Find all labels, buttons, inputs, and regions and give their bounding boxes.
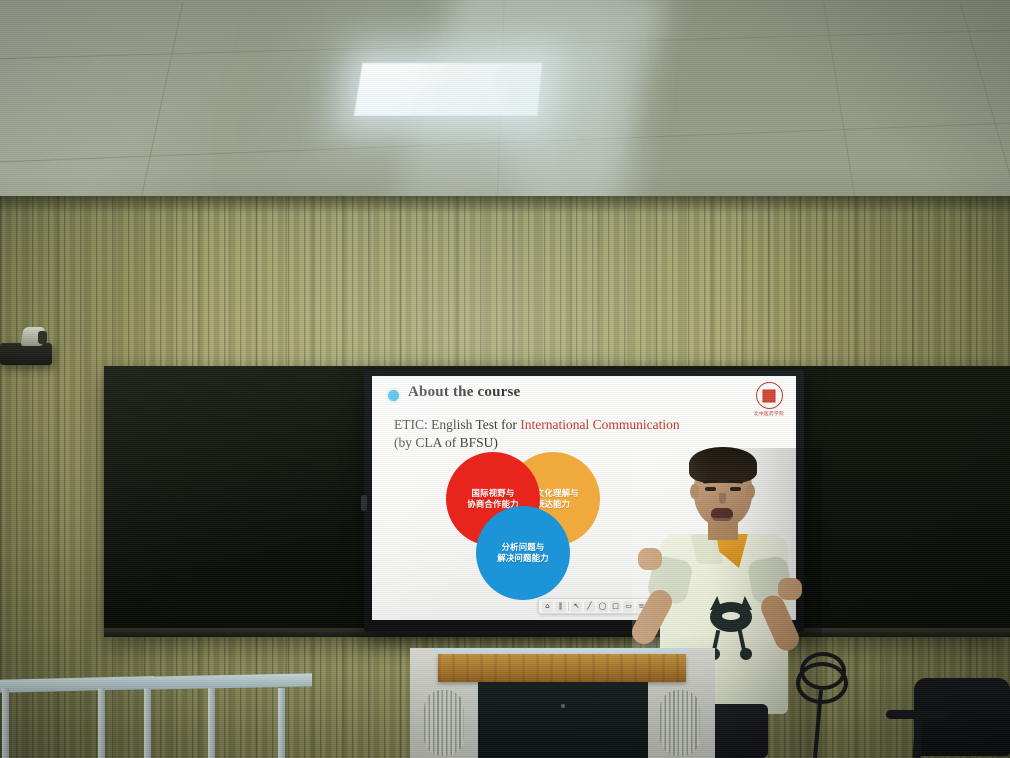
eraser-icon[interactable]: ◯	[597, 601, 608, 612]
lectern-speaker-left	[424, 690, 464, 756]
pen-icon[interactable]: ╱	[584, 601, 595, 612]
presenter-hand-right	[778, 578, 802, 600]
presenter-eye-left	[705, 487, 716, 491]
cursor-icon[interactable]: ↖	[571, 601, 582, 612]
venn-red-line1: 国际视野与	[472, 488, 515, 498]
coiled-cable	[794, 640, 854, 758]
lectern-front-panel	[478, 682, 648, 758]
table-leg	[98, 688, 105, 758]
camera-lens-icon	[38, 331, 47, 344]
lectern-wood-top	[438, 654, 686, 682]
presenter-ear-right	[746, 484, 755, 499]
slides-icon[interactable]: ‖	[555, 601, 566, 612]
classroom-photo: About the course ETIC: English Test for …	[0, 0, 1010, 758]
table-top-left	[0, 676, 154, 693]
lectern	[410, 648, 715, 758]
venn-blue-line1: 分析问题与	[502, 542, 545, 552]
bullet-icon	[388, 390, 399, 401]
lectern-speaker-right	[660, 690, 700, 756]
ceiling	[0, 0, 1010, 215]
camera-icon	[0, 343, 52, 365]
university-seal-icon: 北中医药学院	[752, 382, 786, 418]
shape-icon[interactable]: □	[610, 601, 621, 612]
subtitle-part-2: (by CLA of BFSU)	[394, 435, 498, 450]
slide-subtitle: ETIC: English Test for International Com…	[394, 416, 680, 452]
venn-orange-line2: 表达能力	[536, 499, 570, 509]
seal-text: 北中医药学院	[752, 411, 786, 417]
office-chair	[886, 678, 1010, 758]
lectern-knob[interactable]	[561, 704, 565, 708]
cat-paw-right	[740, 648, 752, 660]
presenter-hair	[689, 447, 757, 483]
seal-ring	[756, 382, 783, 409]
toolbar-divider	[568, 602, 569, 611]
slide-title: About the course	[408, 384, 520, 401]
home-icon[interactable]: ⌂	[542, 601, 553, 612]
table-leg	[278, 688, 285, 758]
presenter-eye-right	[730, 487, 741, 491]
presenter-hand-left	[638, 548, 662, 570]
venn-circle-blue: 分析问题与解决问题能力	[476, 506, 570, 600]
table-leg	[208, 688, 215, 758]
presenter-ear-left	[690, 484, 699, 499]
table-leg	[2, 688, 9, 758]
presenter-nose	[719, 493, 726, 504]
subtitle-highlight: International Communication	[520, 417, 679, 432]
led-panel-light	[354, 63, 543, 116]
venn-diagram: 国际视野与协商合作能力 跨文化理解与表达能力 分析问题与解决问题能力	[446, 450, 626, 600]
venn-blue-line2: 解决问题能力	[497, 553, 548, 563]
presenter-mouth	[711, 508, 733, 521]
student-tables	[0, 672, 312, 758]
wall-top-shadow	[0, 196, 1010, 214]
table-top-right	[146, 673, 312, 689]
cat-face	[722, 612, 740, 620]
table-leg	[144, 688, 151, 758]
subtitle-part-1: ETIC: English Test for	[394, 417, 520, 432]
display-side-button[interactable]	[361, 495, 367, 511]
